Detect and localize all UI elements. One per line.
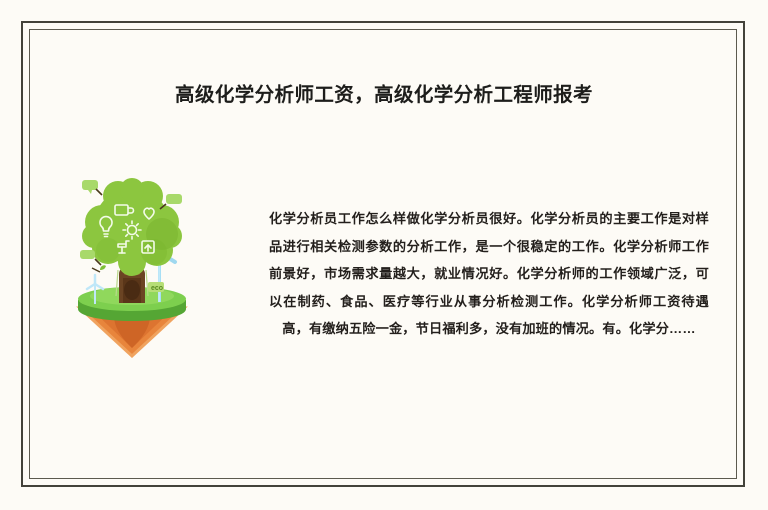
eco-tree-island-illustration: eco [62, 178, 202, 358]
page-canvas: 高级化学分析师工资，高级化学分析工程师报考 化学分析员工作怎么样做化学分析员很好… [0, 0, 768, 510]
article-body-text: 化学分析员工作怎么样做化学分析员很好。化学分析员的主要工作是对样品进行相关检测参… [269, 205, 709, 343]
seedling-icon [92, 265, 106, 272]
speech-bubble-icon [82, 180, 102, 195]
svg-text:eco: eco [151, 285, 163, 292]
tag-icon-bottom: eco [148, 282, 164, 292]
page-title: 高级化学分析师工资，高级化学分析工程师报考 [0, 82, 768, 108]
tag-icon-right [160, 194, 182, 209]
